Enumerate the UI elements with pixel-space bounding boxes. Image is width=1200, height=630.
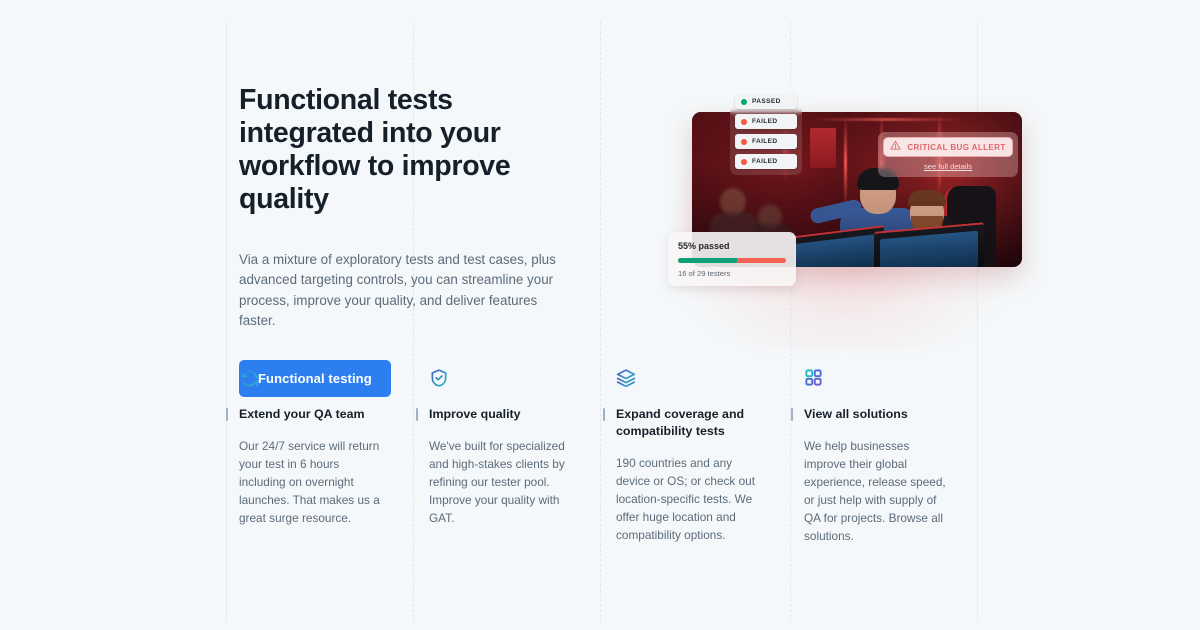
grid-squares-icon [804, 368, 952, 390]
status-pill[interactable]: FAILED [735, 114, 797, 129]
feature-view-all-solutions[interactable]: View all solutions We help businesses im… [790, 368, 978, 545]
status-label: FAILED [752, 138, 778, 145]
feature-heading: Improve quality [429, 406, 576, 423]
feature-columns: Extend your QA team Our 24/7 service wil… [226, 368, 978, 545]
hero-illustration: PASSED FAILED FAILED FAILED [660, 70, 1030, 320]
feature-heading-text: Expand coverage and compatibility tests [616, 407, 744, 438]
pass-rate-card: 55% passed 16 of 29 testers [668, 232, 796, 286]
feature-heading: View all solutions [804, 406, 952, 423]
feature-heading-text: Extend your QA team [239, 407, 365, 421]
heading-tick [791, 408, 793, 421]
alert-label: CRITICAL BUG ALLERT [907, 143, 1005, 152]
status-label: FAILED [752, 158, 778, 165]
critical-bug-alert-card: CRITICAL BUG ALLERT see full details [878, 132, 1018, 177]
feature-improve-quality[interactable]: Improve quality We've built for speciali… [414, 368, 602, 545]
test-status-list: PASSED FAILED FAILED FAILED [730, 88, 802, 175]
pass-rate-title: 55% passed [678, 241, 786, 251]
feature-body: We help businesses improve their global … [804, 437, 952, 545]
status-label: PASSED [752, 98, 781, 105]
feature-body: We've built for specialized and high-sta… [429, 437, 576, 527]
heading-tick [226, 408, 228, 421]
alert-banner[interactable]: CRITICAL BUG ALLERT [883, 137, 1013, 157]
status-pill[interactable]: FAILED [735, 154, 797, 169]
status-dot-fail [741, 119, 747, 125]
feature-extend-your-qa-team[interactable]: Extend your QA team Our 24/7 service wil… [226, 368, 414, 545]
status-pill[interactable]: PASSED [735, 94, 797, 109]
pass-rate-progress-bar [678, 258, 786, 263]
status-dot-fail [741, 159, 747, 165]
see-full-details-link[interactable]: see full details [883, 162, 1013, 171]
heading-tick [416, 408, 418, 421]
hero-text-block: Functional tests integrated into your wo… [239, 84, 579, 397]
refresh-sync-icon [239, 368, 388, 390]
status-dot-fail [741, 139, 747, 145]
status-pill[interactable]: FAILED [735, 134, 797, 149]
shield-check-icon [429, 368, 576, 390]
layers-stack-icon [616, 368, 764, 390]
pass-rate-progress-fill [678, 258, 737, 263]
warning-triangle-icon [890, 138, 901, 156]
feature-expand-coverage[interactable]: Expand coverage and compatibility tests … [602, 368, 790, 545]
feature-heading-text: Improve quality [429, 407, 521, 421]
feature-body: 190 countries and any device or OS; or c… [616, 454, 764, 544]
status-dot-pass [741, 99, 747, 105]
status-label: FAILED [752, 118, 778, 125]
hero-subtitle: Via a mixture of exploratory tests and t… [239, 250, 569, 332]
page-root: Functional tests integrated into your wo… [0, 0, 1200, 630]
feature-heading: Expand coverage and compatibility tests [616, 406, 764, 440]
feature-heading: Extend your QA team [239, 406, 388, 423]
feature-body: Our 24/7 service will return your test i… [239, 437, 388, 527]
heading-tick [603, 408, 605, 421]
page-title: Functional tests integrated into your wo… [239, 84, 579, 216]
feature-heading-text: View all solutions [804, 407, 908, 421]
pass-rate-subtitle: 16 of 29 testers [678, 269, 786, 278]
